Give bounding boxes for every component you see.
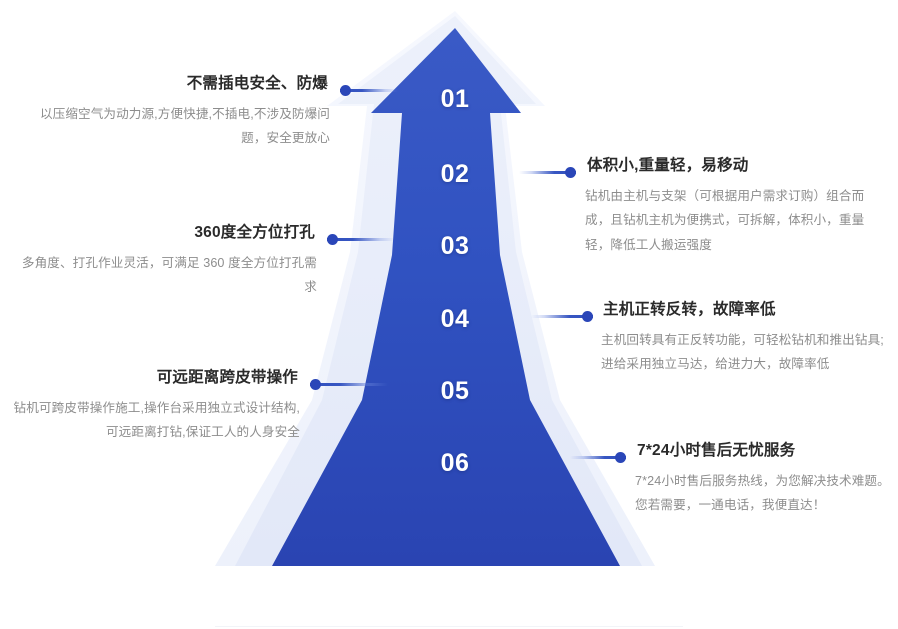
connector-line-05 (310, 383, 388, 386)
feature-desc-05: 钻机可跨皮带操作施工,操作台采用独立式设计结构,可远距离打钻,保证工人的人身安全 (5, 396, 300, 445)
feature-title-01: 不需插电安全、防爆 (20, 74, 330, 95)
connector-dot-05 (310, 379, 321, 390)
step-number-01: 01 (395, 85, 515, 114)
feature-title-04: 主机正转反转，故障率低 (601, 300, 891, 321)
feature-title-05: 可远距离跨皮带操作 (5, 368, 300, 389)
feature-desc-02: 钻机由主机与支架（可根据用户需求订购）组合而成，且钻机主机为便携式，可拆解，体积… (585, 184, 885, 258)
connector-05 (310, 379, 388, 390)
feature-title-06: 7*24小时售后无忧服务 (635, 441, 893, 462)
feature-desc-06: 7*24小时售后服务热线，为您解决技术难题。您若需要，一通电话，我便直达！ (635, 469, 893, 518)
bottom-divider (215, 626, 683, 627)
step-number-04: 04 (395, 305, 515, 334)
feature-item-01: 不需插电安全、防爆 以压缩空气为动力源,方便快捷,不插电,不涉及防爆问题，安全更… (20, 74, 330, 151)
feature-desc-03: 多角度、打孔作业灵活，可满足 360 度全方位打孔需求 (10, 251, 317, 300)
feature-item-03: 360度全方位打孔 多角度、打孔作业灵活，可满足 360 度全方位打孔需求 (10, 223, 317, 300)
step-number-02: 02 (395, 160, 515, 189)
feature-item-04: 主机正转反转，故障率低 主机回转具有正反转功能，可轻松钻机和推出钻具;进给采用独… (601, 300, 891, 377)
step-number-03: 03 (395, 232, 515, 261)
connector-dot-04 (582, 311, 593, 322)
feature-desc-04: 主机回转具有正反转功能，可轻松钻机和推出钻具;进给采用独立马达，给进力大，故障率… (601, 328, 891, 377)
connector-01 (340, 85, 398, 96)
connector-dot-03 (327, 234, 338, 245)
feature-item-02: 体积小,重量轻，易移动 钻机由主机与支架（可根据用户需求订购）组合而成，且钻机主… (585, 156, 885, 258)
connector-dot-01 (340, 85, 351, 96)
connector-dot-02 (565, 167, 576, 178)
infographic-canvas: 01 02 03 04 05 06 不需插电安全、防爆 以压缩空气为动力源,方便… (0, 0, 898, 629)
connector-04 (531, 311, 593, 322)
feature-desc-01: 以压缩空气为动力源,方便快捷,不插电,不涉及防爆问题，安全更放心 (20, 102, 330, 151)
feature-item-06: 7*24小时售后无忧服务 7*24小时售后服务热线，为您解决技术难题。您若需要，… (635, 441, 893, 518)
step-number-05: 05 (395, 377, 515, 406)
connector-dot-06 (615, 452, 626, 463)
feature-item-05: 可远距离跨皮带操作 钻机可跨皮带操作施工,操作台采用独立式设计结构,可远距离打钻… (5, 368, 300, 445)
connector-06 (570, 452, 626, 463)
feature-title-03: 360度全方位打孔 (10, 223, 317, 244)
connector-03 (327, 234, 395, 245)
connector-02 (519, 167, 576, 178)
step-number-06: 06 (395, 449, 515, 478)
feature-title-02: 体积小,重量轻，易移动 (585, 156, 885, 177)
